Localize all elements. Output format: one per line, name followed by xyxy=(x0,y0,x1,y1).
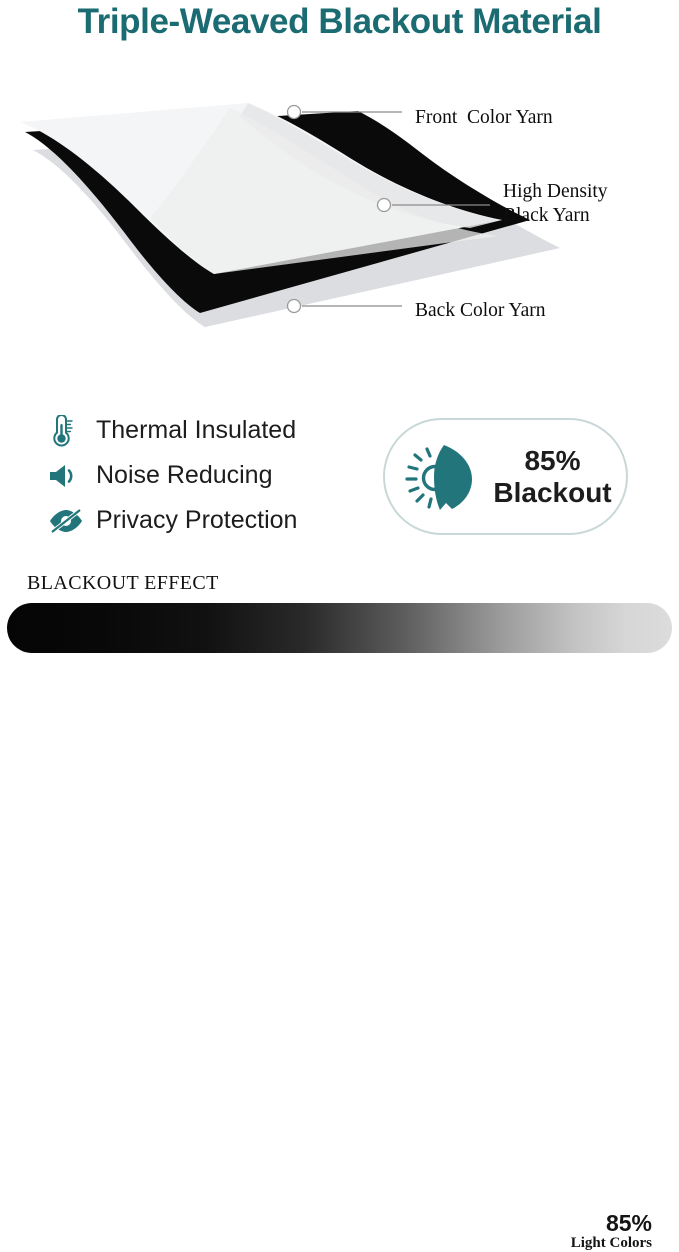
callout-label-high-density-black-yarn: High Density Black Yarn xyxy=(503,180,608,228)
feature-item-noise-reducing: Noise Reducing xyxy=(48,453,358,498)
feature-item-privacy-protection: Privacy Protection xyxy=(48,498,358,543)
page-title: Triple-Weaved Blackout Material xyxy=(0,2,679,42)
eye-slash-icon xyxy=(48,503,88,539)
feature-label-thermal-insulated: Thermal Insulated xyxy=(96,416,296,445)
callout-label-front-color-yarn: Front Color Yarn xyxy=(415,106,553,130)
sun-blocked-icon xyxy=(399,434,485,520)
blackout-badge-text: 85% Blackout xyxy=(485,445,626,508)
blackout-effect-gradient-bar: 99% Darker Colors 85% Light Colors xyxy=(7,603,672,653)
blackout-stat-light-colors: 85% Light Colors xyxy=(571,1211,652,1252)
light-colors-percent: 85% xyxy=(571,1211,652,1235)
callout-label-back-color-yarn: Back Color Yarn xyxy=(415,299,546,323)
blackout-percentage-badge: 85% Blackout xyxy=(383,418,628,535)
speaker-sound-icon xyxy=(48,458,88,494)
feature-list: Thermal Insulated Noise Reducing Privacy… xyxy=(48,408,358,543)
blackout-effect-heading: BLACKOUT EFFECT xyxy=(27,572,219,595)
feature-label-privacy-protection: Privacy Protection xyxy=(96,506,297,535)
light-colors-caption: Light Colors xyxy=(571,1236,652,1252)
darker-colors-percent: 99% xyxy=(52,1211,145,1235)
feature-item-thermal-insulated: Thermal Insulated xyxy=(48,408,358,453)
feature-label-noise-reducing: Noise Reducing xyxy=(96,461,273,490)
blackout-badge-percent: 85% xyxy=(524,445,580,476)
blackout-badge-label: Blackout xyxy=(493,477,611,508)
darker-colors-caption: Darker Colors xyxy=(52,1236,145,1252)
thermometer-icon xyxy=(48,413,88,449)
blackout-stat-darker-colors: 99% Darker Colors xyxy=(52,1211,145,1252)
